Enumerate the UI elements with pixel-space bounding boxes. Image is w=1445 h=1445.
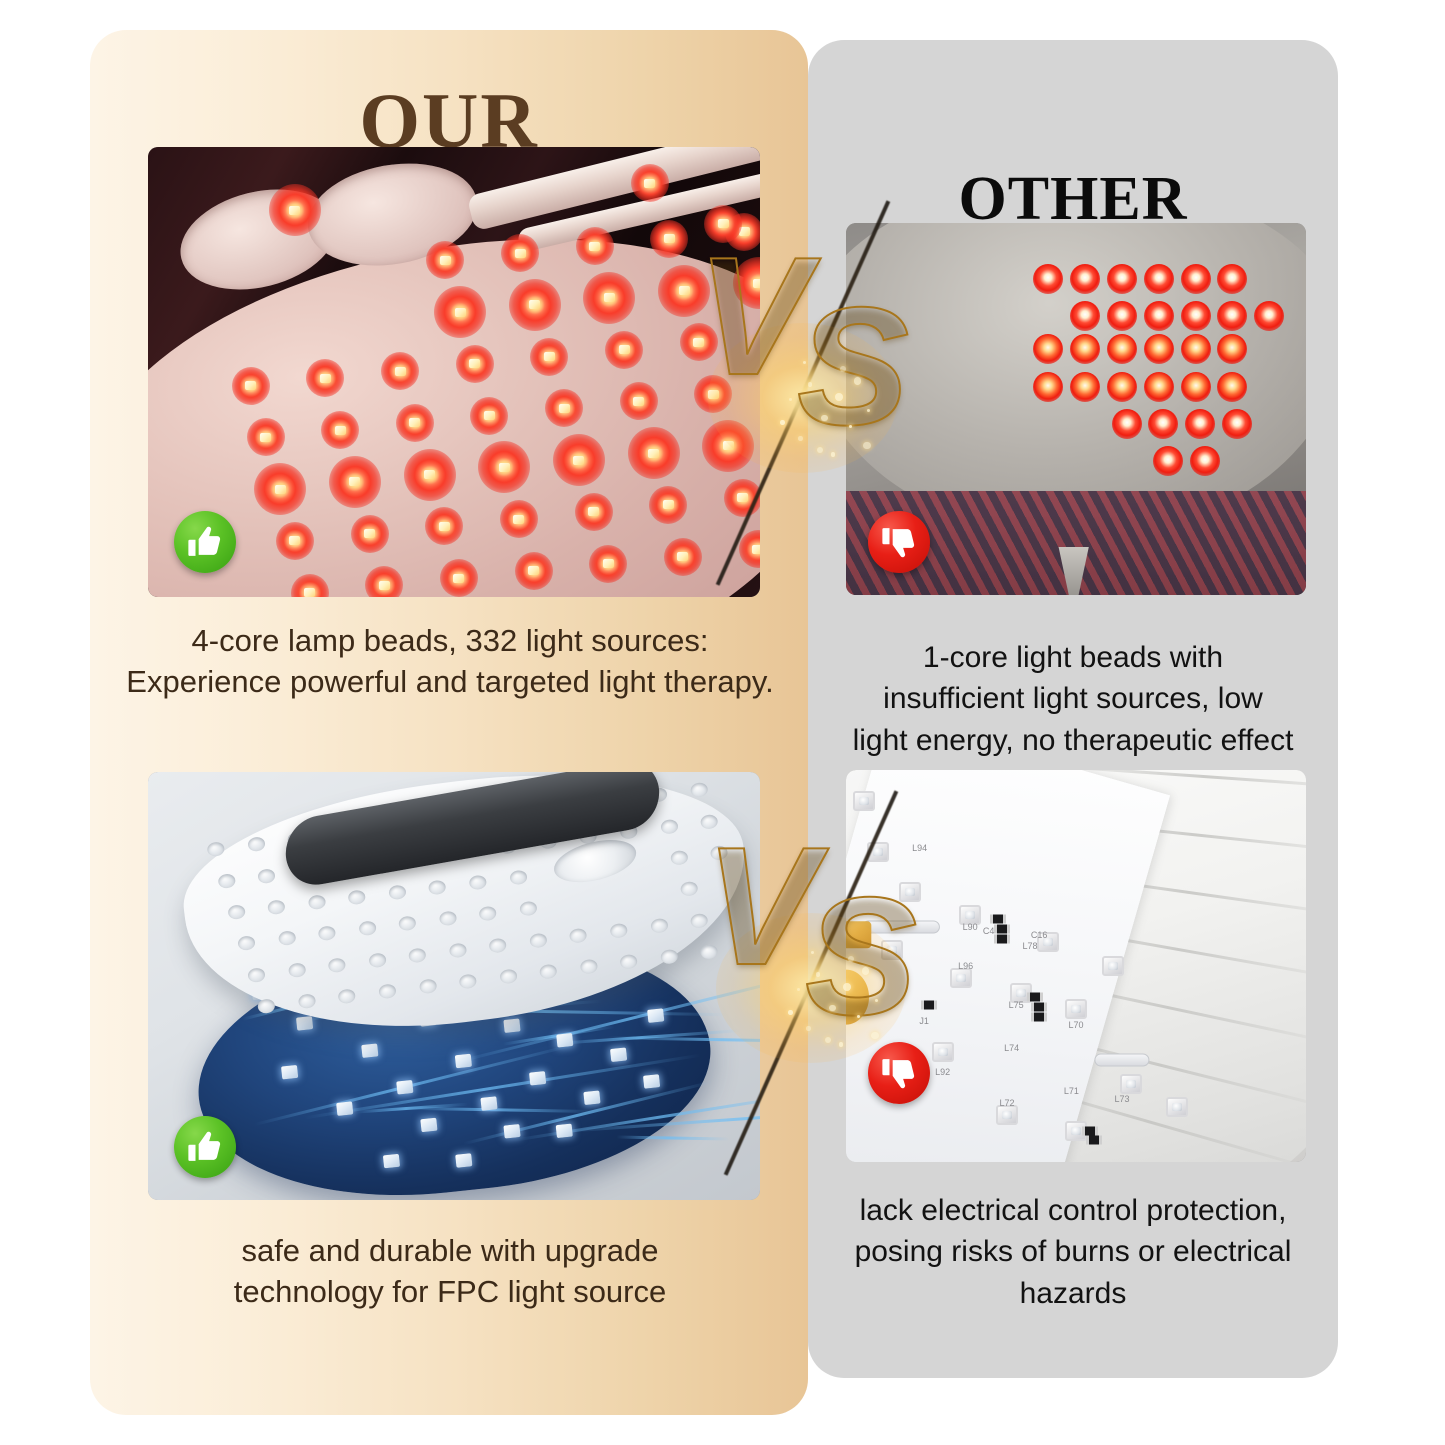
led-dot [1144,372,1174,402]
led-dot [1033,264,1063,294]
led-dot [1070,334,1100,364]
lamp-bead [478,441,530,493]
led-dot [1185,409,1215,439]
pcb-led [1120,1074,1142,1094]
fpc-led [529,1071,546,1086]
fpc-led [647,1009,664,1024]
led-dot [1222,409,1252,439]
shell-hole [317,925,336,941]
shell-hole [227,904,246,920]
lamp-bead [658,265,710,317]
shell-hole [690,912,709,928]
shell-hole [710,844,729,860]
led-dot [1254,301,1284,331]
other-caption-2: lack electrical control protection, posi… [822,1190,1324,1314]
other-photo-sparse-leds [846,223,1306,595]
lamp-bead [649,486,687,524]
caption-line: lack electrical control protection, [822,1190,1324,1231]
gold-contact [846,921,871,948]
caption-line: posing risks of burns or electrical [822,1231,1324,1272]
shell-hole [438,910,457,926]
pcb-led [932,1042,954,1062]
led-dot [1112,409,1142,439]
led-dot [1070,372,1100,402]
thumbs-up-icon [174,1116,236,1178]
led-dot [1217,334,1247,364]
led-dot [1181,334,1211,364]
lamp-bead [329,456,381,508]
led-dot [1148,409,1178,439]
other-panel: OTHER 1-core light beads with insufficie… [808,40,1338,1378]
caption-line: safe and durable with upgrade [100,1230,800,1271]
led-dot [1107,372,1137,402]
caption-line: Experience powerful and targeted light t… [100,661,800,702]
other-photo-bare-pcb: L94L90L78L96L75L70L92L74L71L73L72J1C4C16 [846,770,1306,1162]
shell-hole [519,901,538,917]
fpc-led [555,1123,572,1138]
thumbs-down-icon [868,511,930,573]
lamp-bead [434,286,486,338]
fpc-led [455,1154,472,1169]
shell-hole [408,947,427,963]
pcb-reference-label: L90 [963,922,978,932]
pcb-reference-label: C16 [1031,930,1048,940]
lamp-bead [530,338,568,376]
shell-hole [247,836,266,852]
pcb-reference-label: L96 [958,961,973,971]
fpc-led [383,1154,400,1169]
shell-hole [609,922,628,938]
shell-hole [649,917,668,933]
lamp-bead [365,566,403,597]
lamp-bead [247,418,285,456]
fpc-led [396,1080,413,1095]
lamp-bead [321,411,359,449]
shell-hole [569,927,588,943]
shell-hole [277,930,296,946]
pcb-resistor [994,924,1010,933]
led-dot [1107,264,1137,294]
lamp-bead [605,331,643,369]
lamp-bead [381,352,419,390]
led-dot [1070,301,1100,331]
pcb-reference-label: L94 [912,843,927,853]
shell-hole [509,869,528,885]
lamp-bead [269,184,321,236]
fpc-image [148,772,760,1200]
lamp-bead [583,272,635,324]
pcb-resistor [994,934,1010,943]
fpc-led [296,1016,313,1031]
pcb-led [881,940,903,960]
fpc-led [503,1019,520,1034]
our-photo-fpc [148,772,760,1200]
shell-hole [378,983,397,999]
lamp-bead [680,323,718,361]
fpc-led [280,1065,297,1080]
shell-hole [619,953,638,969]
fpc-led [336,1101,353,1116]
thumbs-down-icon [868,1042,930,1104]
led-dot [1144,334,1174,364]
shell-hole [669,849,688,865]
led-dot [1217,301,1247,331]
pcb-reference-label: L70 [1068,1020,1083,1030]
fpc-led [480,1096,497,1111]
fpc-led [361,1044,378,1059]
pcb-resistor [1082,1126,1098,1135]
pcb-led [1102,956,1124,976]
shell-hole [529,932,548,948]
led-dot [1107,301,1137,331]
caption-line: hazards [822,1273,1324,1314]
pcb-reference-label: L78 [1022,941,1037,951]
caption-line: 1-core light beads with [822,637,1324,678]
caption-line: technology for FPC light source [100,1271,800,1312]
circuit-trace [255,1044,575,1127]
shell-hole [398,915,417,931]
led-dot [1144,301,1174,331]
shell-hole [217,872,236,888]
bare-pcb-image: L94L90L78L96L75L70L92L74L71L73L72J1C4C16 [846,770,1306,1162]
lamp-bead [426,241,464,279]
lamp-bead [501,234,539,272]
pcb-slot [862,920,940,933]
led-dot [1217,372,1247,402]
lamp-bead [425,507,463,545]
lamp-bead [628,427,680,479]
dense-beads-image [148,147,760,597]
shell-hole [418,978,437,994]
lamp-bead [456,345,494,383]
lamp-bead [724,479,760,517]
shell-hole [680,881,699,897]
shell-hole [458,973,477,989]
comparison-infographic: OUR 4-core lamp beads, 332 light sources… [0,0,1445,1445]
pcb-reference-label: L92 [935,1067,950,1077]
pcb-reference-label: L72 [999,1098,1014,1108]
shell-hole [257,867,276,883]
shell-hole [297,993,316,1009]
shell-hole [488,937,507,953]
other-caption-1: 1-core light beads with insufficient lig… [822,637,1324,761]
led-dot [1190,446,1220,476]
shell-hole [368,952,387,968]
shell-hole [307,894,326,910]
shell-hole [348,889,367,905]
lamp-bead [500,500,538,538]
lamp-bead [404,449,456,501]
shell-hole [700,813,719,829]
shell-hole [448,942,467,958]
lamp-bead [396,404,434,442]
caption-line: light energy, no therapeutic effect [822,720,1324,761]
led-dot [1144,264,1174,294]
lamp-bead [576,227,614,265]
pcb-resistor [1086,1136,1102,1145]
lamp-bead [440,559,478,597]
lamp-bead [470,397,508,435]
lamp-bead [232,367,270,405]
our-caption-2: safe and durable with upgrade technology… [100,1230,800,1312]
shell-hole [267,899,286,915]
fpc-led [420,1118,437,1133]
caption-line: 4-core lamp beads, 332 light sources: [100,620,800,661]
shell-hole [338,988,357,1004]
shell-hole [287,962,306,978]
lamp-bead [276,522,314,560]
pcb-reference-label: C4 [983,926,995,936]
lamp-bead [704,205,742,243]
fpc-led [504,1124,521,1139]
shell-hole [388,884,407,900]
pcb-led [1065,999,1087,1019]
lamp-bead [254,463,306,515]
lamp-bead [553,434,605,486]
lamp-bead [515,552,553,590]
shell-hole [478,905,497,921]
lamp-bead [351,515,389,553]
lamp-bead [509,279,561,331]
fpc-led [583,1090,600,1105]
thumbs-up-icon [174,511,236,573]
shell-hole [659,818,678,834]
led-dot [1217,264,1247,294]
pcb-reference-label: L73 [1114,1094,1129,1104]
pcb-led [867,842,889,862]
pcb-resistor [1031,1003,1047,1012]
pcb-reference-label: L74 [1004,1043,1019,1053]
lamp-bead [694,375,732,413]
led-dot [1107,334,1137,364]
pcb-led [899,882,921,902]
lamp-bead [575,493,613,531]
our-panel: OUR 4-core lamp beads, 332 light sources… [90,30,808,1415]
lamp-bead [664,538,702,576]
our-photo-dense-beads [148,147,760,597]
pcb-reference-label: L75 [1009,1000,1024,1010]
led-dot [1153,446,1183,476]
lamp-bead [545,389,583,427]
shell-hole [247,966,266,982]
lamp-bead [620,382,658,420]
led-dot [1033,334,1063,364]
other-title: OTHER [808,168,1338,230]
pcb-slot [1094,1054,1149,1067]
caption-line: insufficient light sources, low [822,678,1324,719]
shell-hole [499,968,518,984]
fpc-led [609,1048,626,1063]
pcb-led [1166,1097,1188,1117]
pcb-resistor [990,914,1006,923]
led-dot [1181,264,1211,294]
led-dot [1033,372,1063,402]
lamp-bead [702,420,754,472]
lamp-bead [589,545,627,583]
led-dot [1070,264,1100,294]
lamp-bead [631,164,669,202]
led-dot [1181,301,1211,331]
pcb-led [853,791,875,811]
shell-hole [237,935,256,951]
our-caption-1: 4-core lamp beads, 332 light sources: Ex… [100,620,800,702]
pcb-resistor [921,1001,937,1010]
fpc-led [556,1033,573,1048]
shell-hole [358,920,377,936]
pcb-resistor [1031,1012,1047,1021]
led-dot [1181,372,1211,402]
lamp-bead [306,359,344,397]
shell-hole [579,958,598,974]
shell-hole [539,963,558,979]
lamp-bead [650,220,688,258]
pcb-resistor [1027,993,1043,1002]
shell-hole [428,879,447,895]
pcb-reference-label: J1 [919,1016,929,1026]
pcb-reference-label: L71 [1064,1086,1079,1096]
fpc-led [643,1074,660,1089]
fpc-led [455,1054,472,1069]
shell-hole [328,957,347,973]
shell-hole [468,874,487,890]
circuit-trace [407,1107,592,1113]
